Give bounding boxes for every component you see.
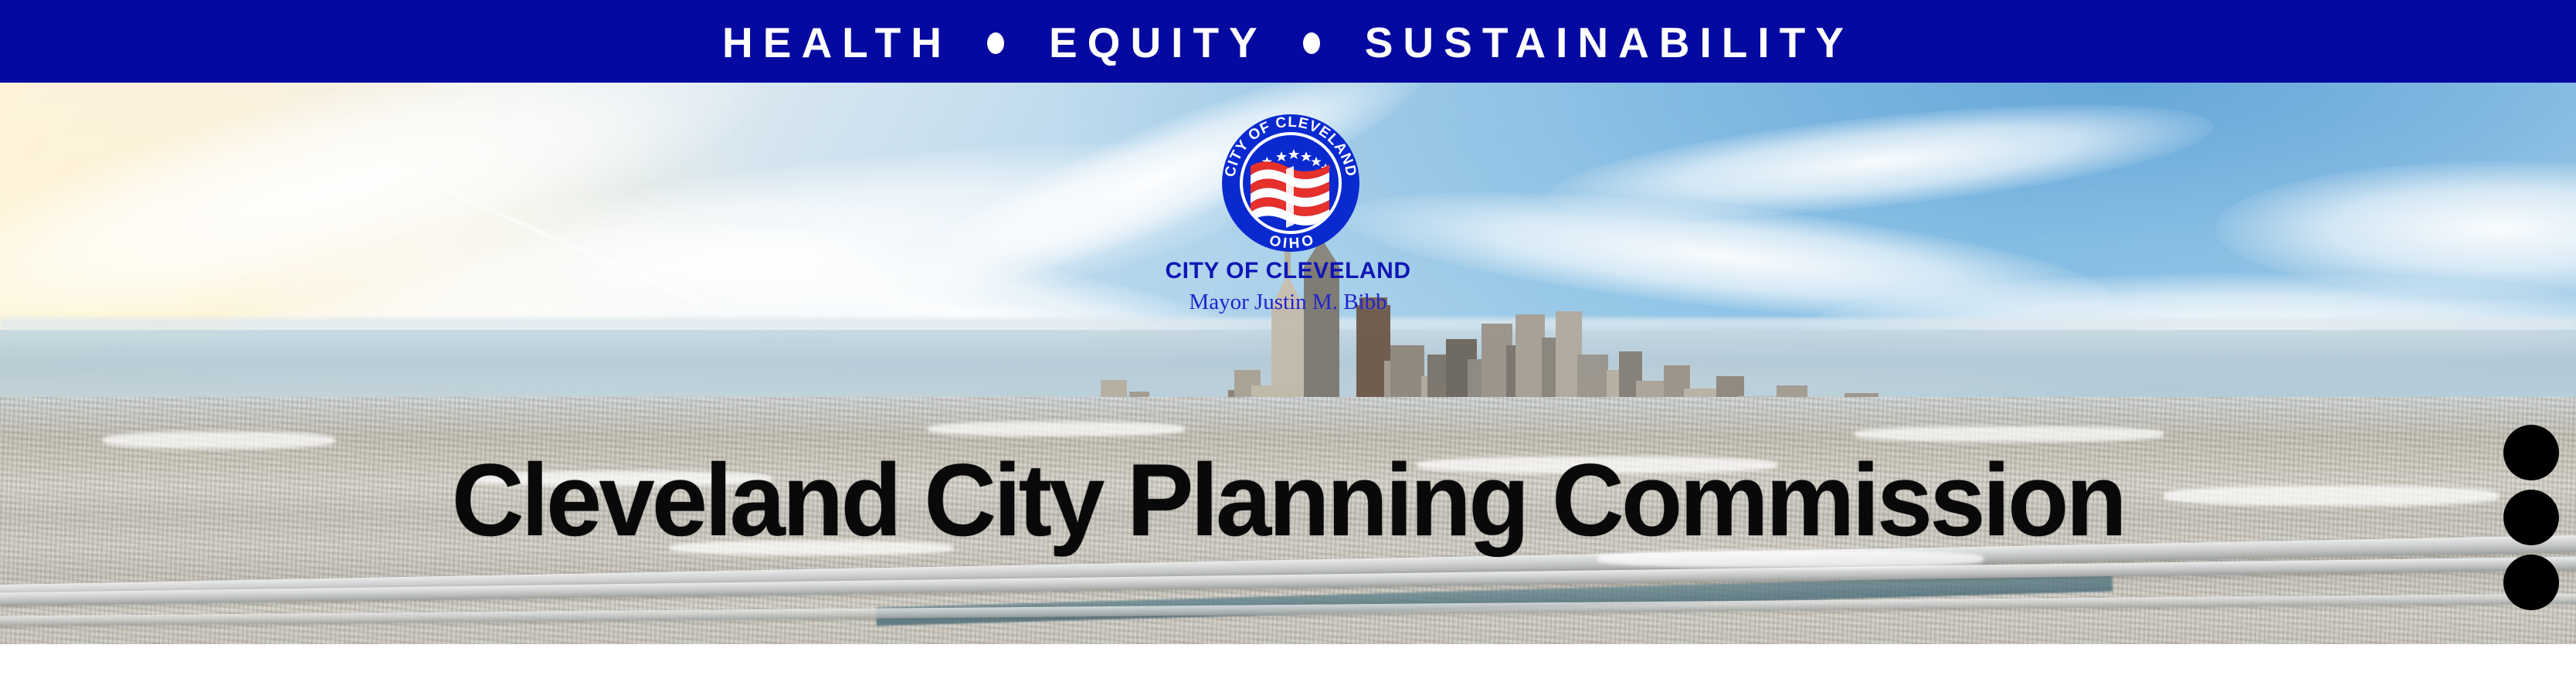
city-of-cleveland-seal-icon: CITY OF CLEVELAND OHIO xyxy=(1222,114,1359,252)
snow-patch xyxy=(103,432,334,449)
bottom-white-strip xyxy=(0,644,2576,682)
social-links-rail xyxy=(2503,425,2559,610)
seal-inner-disc xyxy=(1240,132,1342,234)
snow-patch xyxy=(928,422,1186,436)
page-root: HEALTH EQUITY SUSTAINABILITY xyxy=(0,0,2576,682)
bullet-dot-icon xyxy=(1303,32,1320,54)
tagline-word-sustainability: SUSTAINABILITY xyxy=(1365,22,1854,64)
mayor-name: Mayor Justin M. Bibb xyxy=(1189,291,1386,314)
city-identity-block: CITY OF CLEVELAND OHIO xyxy=(0,114,2576,314)
instagram-icon[interactable] xyxy=(2503,490,2559,545)
org-name: CITY OF CLEVELAND xyxy=(1166,260,1411,283)
tagline-inner: HEALTH EQUITY SUSTAINABILITY xyxy=(722,22,1854,64)
facebook-icon[interactable] xyxy=(2503,555,2559,610)
tagline-word-health: HEALTH xyxy=(722,22,952,64)
waving-flag-icon xyxy=(1243,135,1342,234)
page-title: Cleveland City Planning Commission xyxy=(0,450,2576,552)
youtube-icon[interactable] xyxy=(2503,425,2559,480)
snow-patch xyxy=(1855,426,2164,441)
tagline-banner: HEALTH EQUITY SUSTAINABILITY xyxy=(0,0,2576,83)
tagline-word-equity: EQUITY xyxy=(1049,22,1268,64)
bullet-dot-icon xyxy=(987,32,1004,54)
